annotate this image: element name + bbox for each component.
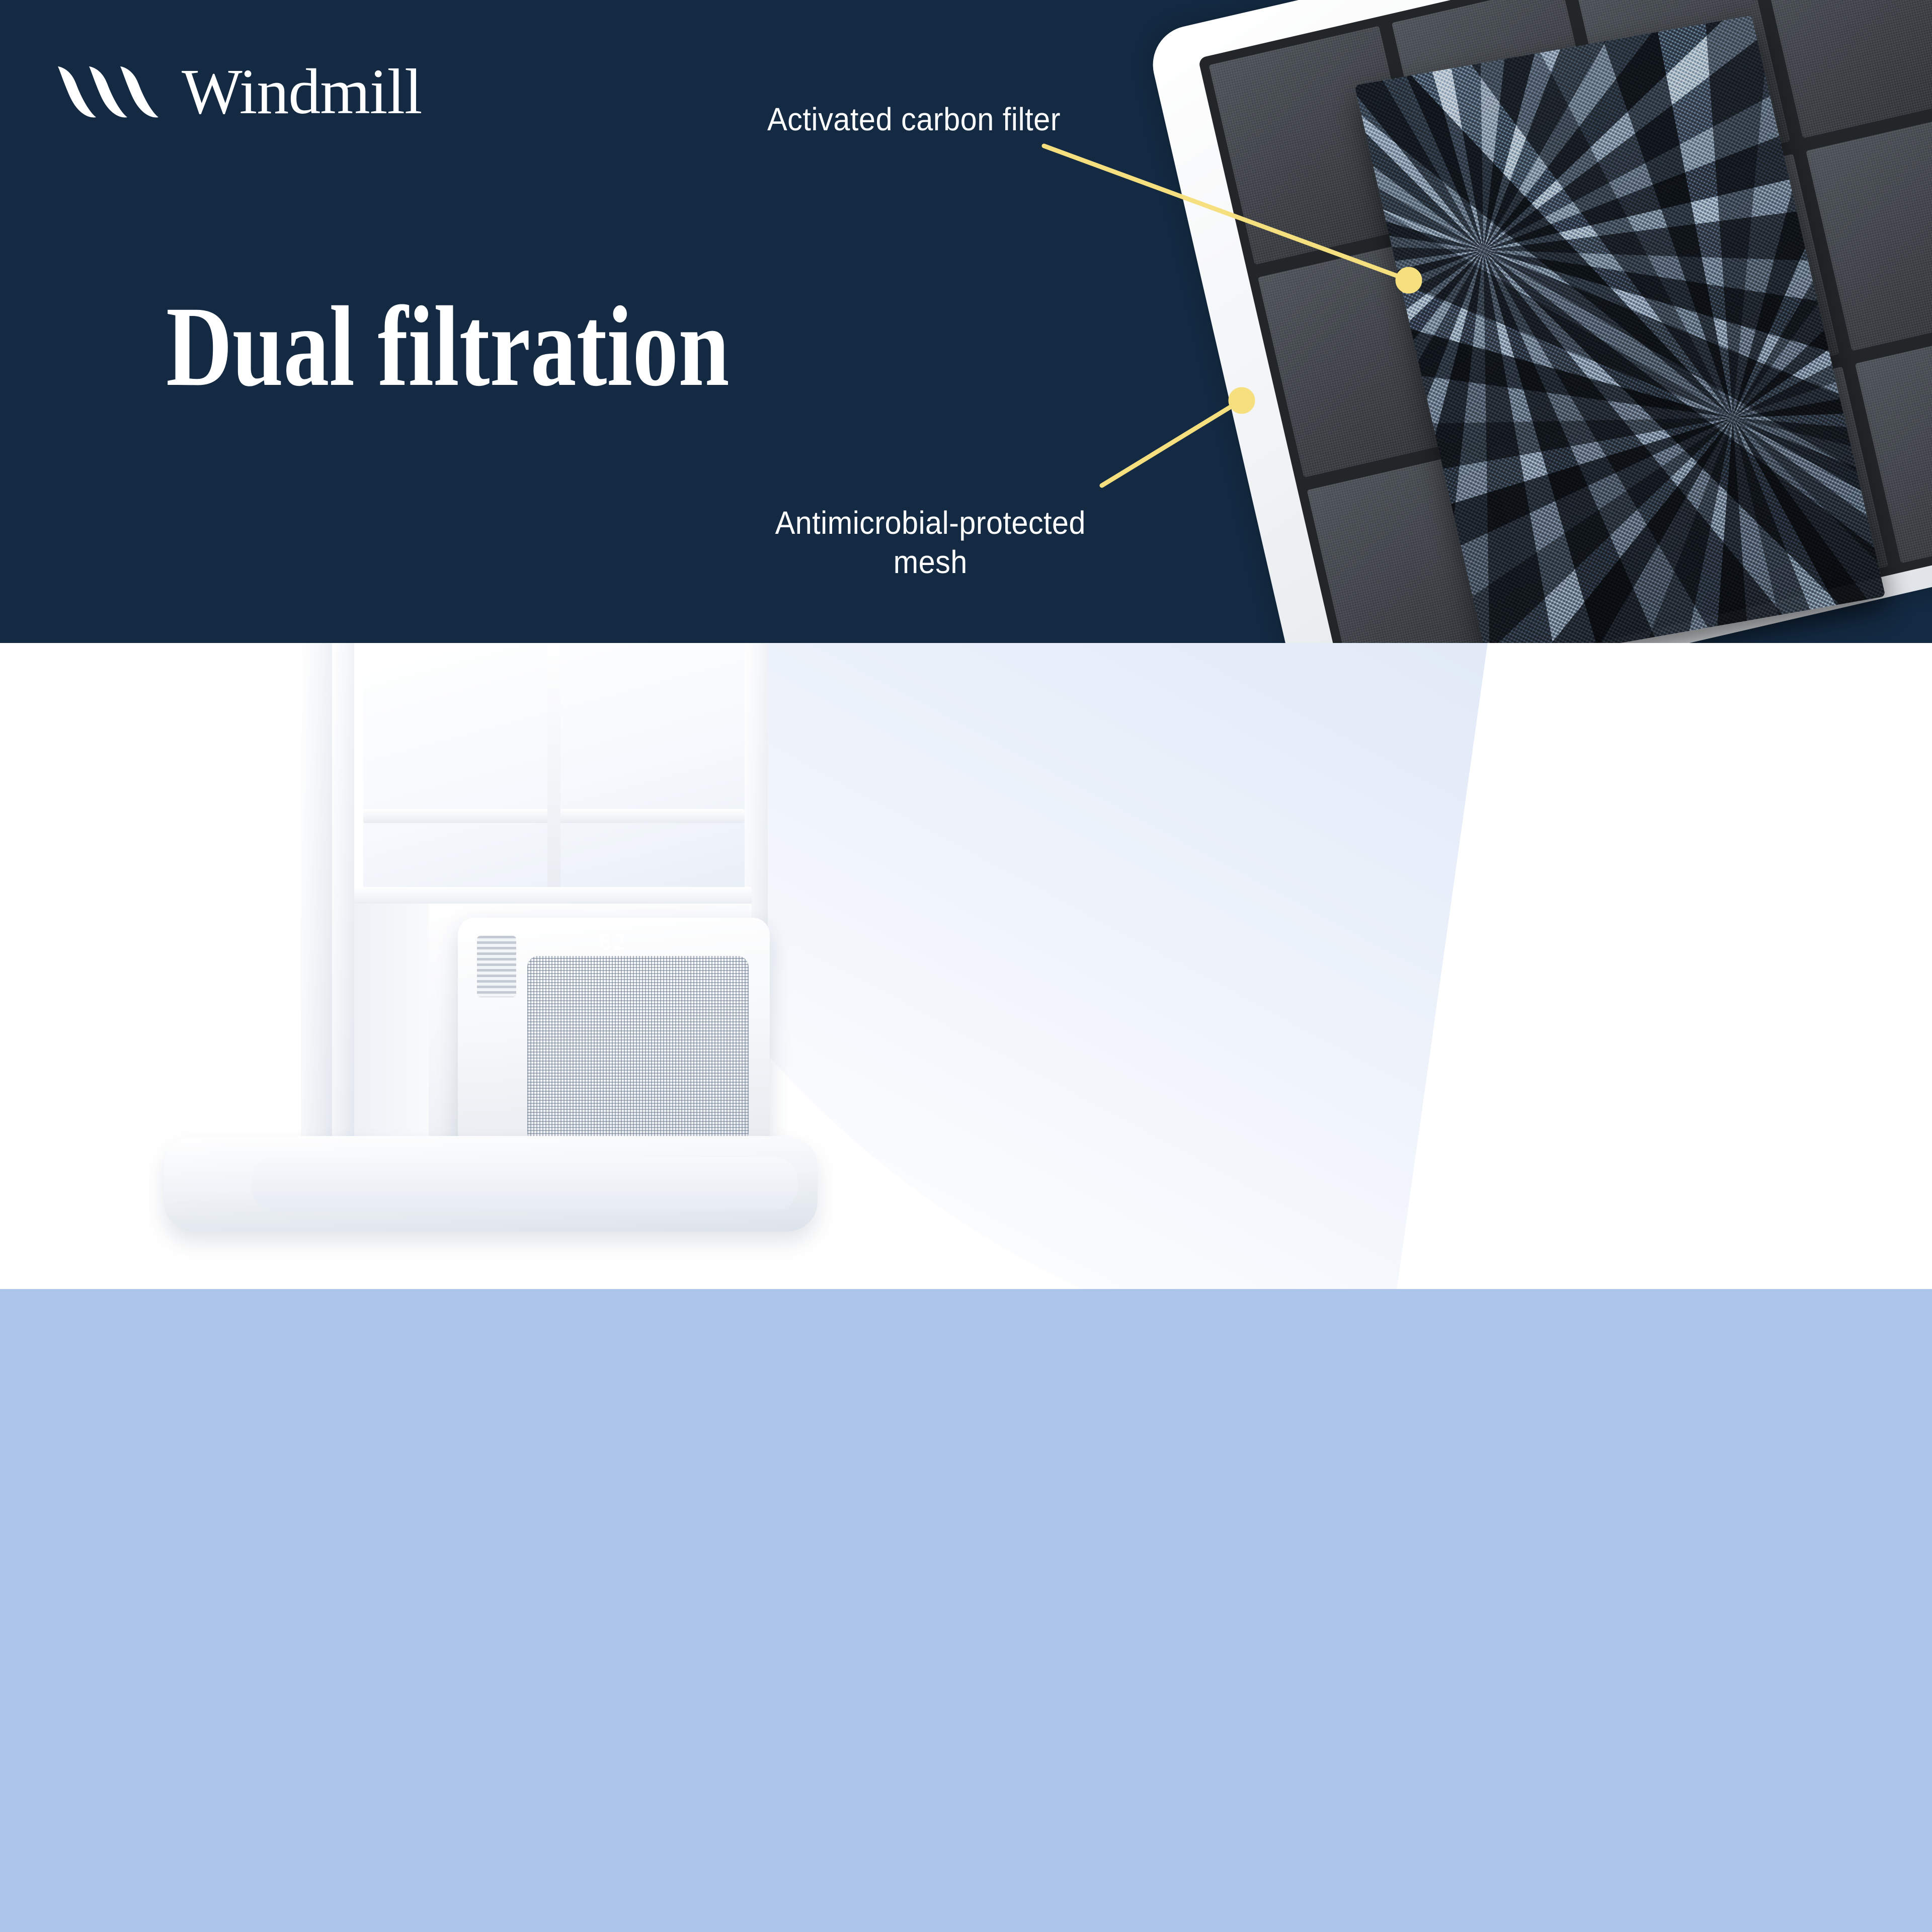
- sash-bar-vertical: [547, 643, 560, 900]
- callout-mesh-line1: Antimicrobial-protected: [775, 505, 1086, 541]
- panel-airflow: 82 Airflow like central air comes out at…: [0, 643, 1932, 1289]
- ac-side-vents: [477, 936, 516, 997]
- callout-antimicrobial-mesh: Antimicrobial-protected mesh: [725, 503, 1136, 582]
- window-jamb-left-inner: [332, 643, 354, 1181]
- callout-activated-carbon-filter: Activated carbon filter: [767, 101, 1061, 138]
- callout-mesh-line2: mesh: [894, 544, 968, 580]
- ac-front-grille: [527, 956, 749, 1143]
- infographic-page: Windmill Dual filtration: [0, 0, 1932, 1932]
- window-meeting-rail: [354, 887, 752, 905]
- panel-dual-filtration: Windmill Dual filtration: [0, 0, 1932, 643]
- ac-display: 82: [599, 930, 626, 954]
- window-ac-photo-middle: 82: [166, 643, 870, 1289]
- panel-double-sided-insulation: Double-sided insulation 2x Energy Star R…: [0, 1289, 1932, 1932]
- window-jamb-left: [301, 643, 332, 1222]
- window-sill-lip: [252, 1157, 797, 1211]
